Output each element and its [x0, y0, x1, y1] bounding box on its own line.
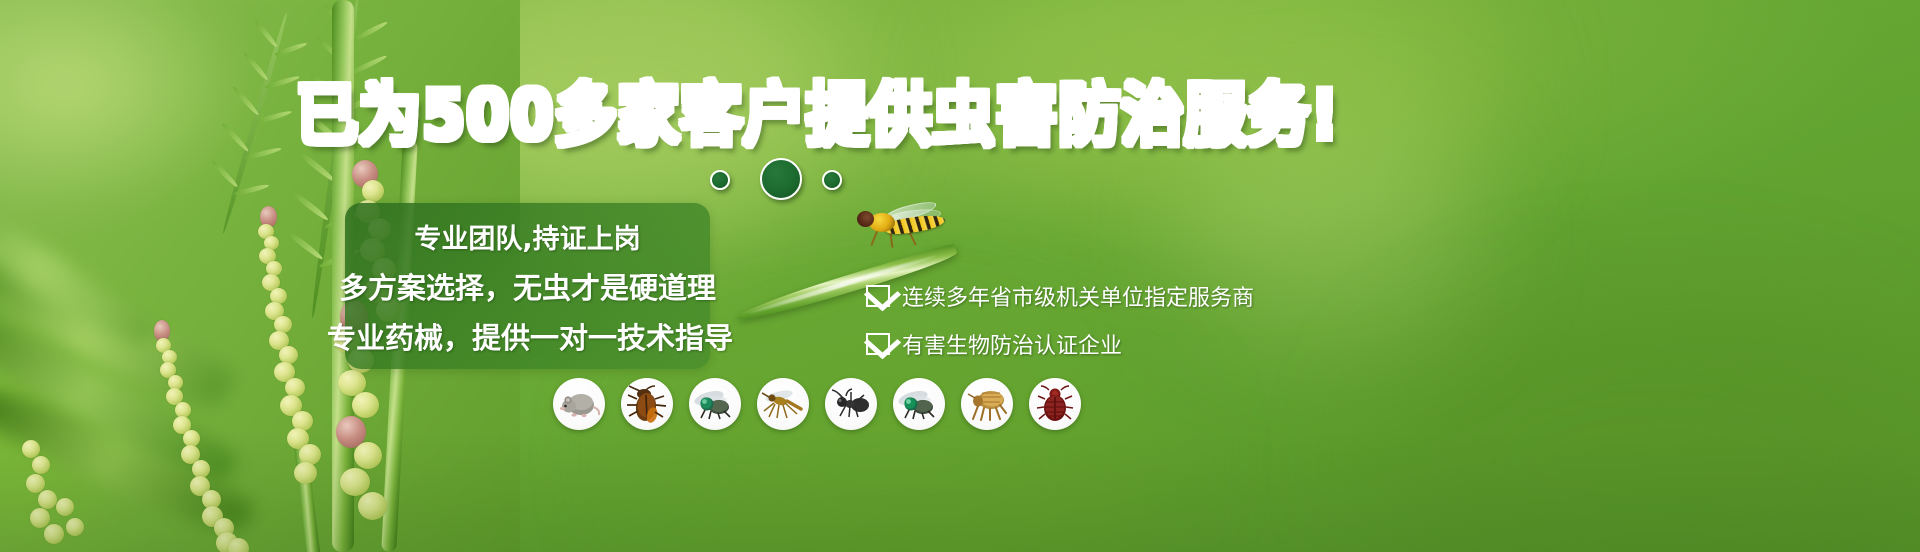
list-item: 有害生物防治认证企业 — [866, 320, 1326, 368]
dot-small-right-icon — [822, 170, 842, 190]
checkbox-check-icon — [866, 333, 890, 355]
dot-small-left-icon — [710, 170, 730, 190]
feature-line-3: 专业药械，提供一对一技术指导 — [327, 315, 728, 357]
decorative-dots — [710, 158, 900, 202]
bedbug-icon[interactable] — [1029, 378, 1081, 430]
page-title-text: 已为500多家客户提供虫害防治服务! — [296, 75, 1340, 155]
promo-banner: 已为500多家客户提供虫害防治服务! 专业团队,持证上岗 多方案选择，无虫才是硬… — [0, 0, 1920, 552]
mosquito-icon[interactable] — [757, 378, 809, 430]
credential-text: 连续多年省市级机关单位指定服务商 — [902, 280, 1254, 312]
hoverfly-photo — [855, 203, 953, 249]
list-item: 连续多年省市级机关单位指定服务商 — [866, 272, 1326, 320]
checkbox-check-icon — [866, 285, 890, 307]
feature-line-1: 专业团队,持证上岗 — [345, 217, 710, 256]
feature-line-2: 多方案选择，无虫才是硬道理 — [333, 265, 722, 307]
feature-panel: 专业团队,持证上岗 多方案选择，无虫才是硬道理 专业药械，提供一对一技术指导 — [345, 203, 710, 369]
dot-large-center-icon — [760, 158, 802, 200]
page-title: 已为500多家客户提供虫害防治服务! — [296, 74, 1296, 158]
fly-icon[interactable] — [689, 378, 741, 430]
credentials-list: 连续多年省市级机关单位指定服务商 有害生物防治认证企业 — [866, 272, 1326, 368]
pest-icon-row — [553, 378, 1081, 430]
cockroach-icon[interactable] — [621, 378, 673, 430]
flower-spike — [22, 430, 112, 552]
background-bokeh-blob — [1380, 300, 1920, 552]
rat-icon[interactable] — [553, 378, 605, 430]
hoverfly-head-icon — [857, 211, 874, 227]
ant-icon[interactable] — [825, 378, 877, 430]
flea-icon[interactable] — [961, 378, 1013, 430]
blowfly-icon[interactable] — [893, 378, 945, 430]
credential-text: 有害生物防治认证企业 — [902, 328, 1122, 360]
flower-spike — [150, 320, 280, 552]
